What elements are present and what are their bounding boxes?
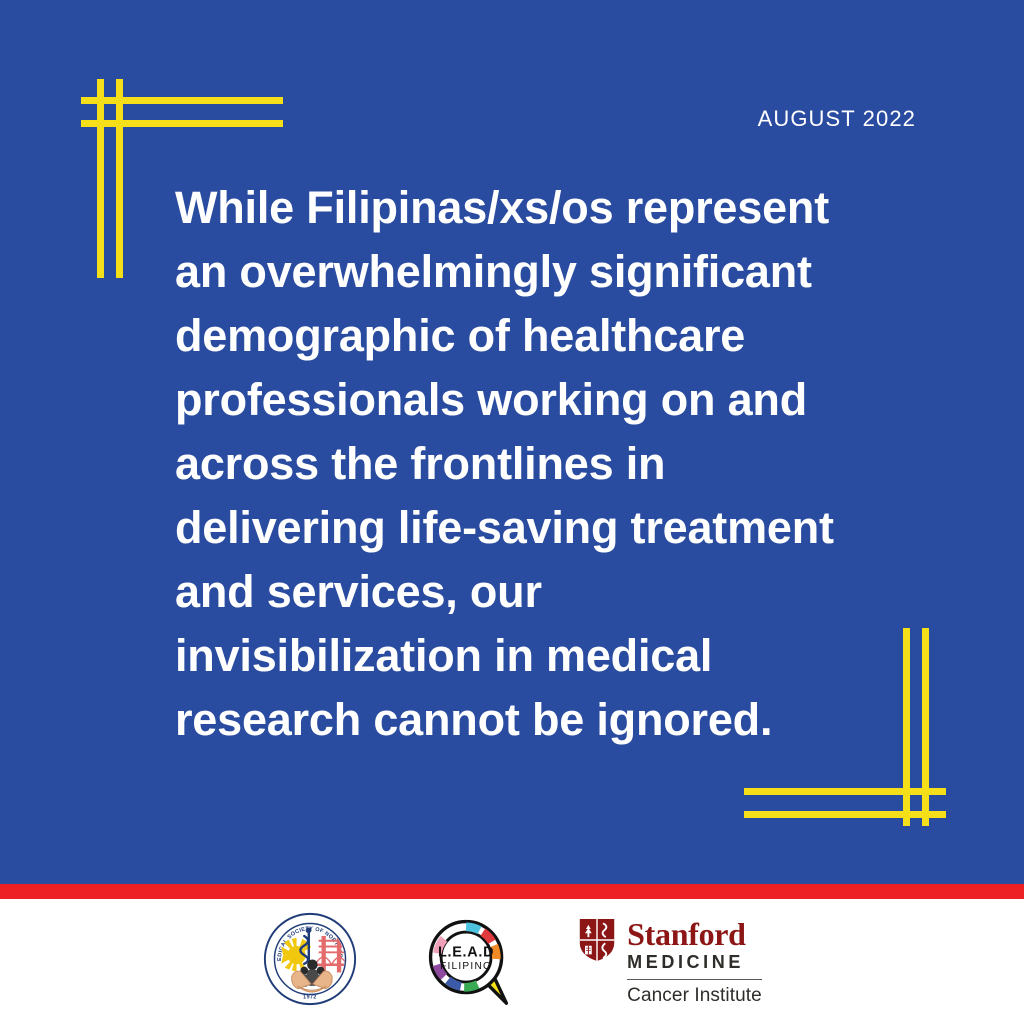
deco-horizontal-line bbox=[81, 97, 283, 104]
deco-vertical-line bbox=[97, 79, 104, 278]
lead-filipino-logo: L.E.A.D FILIPINO bbox=[420, 911, 516, 1012]
quote-line: research cannot be ignored. bbox=[175, 688, 905, 752]
deco-vertical-line bbox=[922, 628, 929, 826]
stanford-wordmark-block: Stanford MEDICINE Cancer Institute bbox=[627, 918, 762, 1006]
svg-text:L.E.A.D: L.E.A.D bbox=[438, 945, 494, 961]
stanford-wordmark: Stanford bbox=[627, 918, 762, 950]
deco-vertical-line bbox=[116, 79, 123, 278]
date-label: AUGUST 2022 bbox=[758, 106, 916, 132]
quote-line: demographic of healthcare bbox=[175, 304, 905, 368]
quote-line: across the frontlines in bbox=[175, 432, 905, 496]
blue-background-panel: AUGUST 2022 While Filipinas/xs/os repres… bbox=[0, 0, 1024, 884]
deco-horizontal-line bbox=[744, 811, 946, 818]
lead-filipino-speech-bubble-icon: L.E.A.D FILIPINO bbox=[420, 911, 516, 1007]
quote-line: While Filipinas/xs/os represent bbox=[175, 176, 905, 240]
stanford-unit-label: MEDICINE bbox=[627, 951, 762, 973]
pmsnc-seal-icon: PHILIPPINE MEDICAL SOCIETY OF NORTHERN C… bbox=[262, 911, 358, 1007]
quote-line: an overwhelmingly significant bbox=[175, 240, 905, 304]
footer-logo-row: PHILIPPINE MEDICAL SOCIETY OF NORTHERN C… bbox=[0, 899, 1024, 1024]
stanford-divider-rule bbox=[627, 979, 762, 980]
quote-line: invisibilization in medical bbox=[175, 624, 905, 688]
quote-line: and services, our bbox=[175, 560, 905, 624]
quote-line: delivering life-saving treatment bbox=[175, 496, 905, 560]
pmsnc-logo: PHILIPPINE MEDICAL SOCIETY OF NORTHERN C… bbox=[262, 911, 358, 1012]
stanford-shield-icon bbox=[578, 918, 616, 962]
svg-text:FILIPINO: FILIPINO bbox=[440, 961, 492, 972]
quote-text: While Filipinas/xs/os represent an overw… bbox=[175, 176, 905, 752]
deco-horizontal-line bbox=[744, 788, 946, 795]
quote-line: professionals working on and bbox=[175, 368, 905, 432]
stanford-subunit-label: Cancer Institute bbox=[627, 986, 762, 1006]
social-media-quote-card: AUGUST 2022 While Filipinas/xs/os repres… bbox=[0, 0, 1024, 1024]
svg-text:1972: 1972 bbox=[303, 994, 317, 1000]
stanford-medicine-cancer-institute-logo: Stanford MEDICINE Cancer Institute bbox=[578, 918, 762, 1006]
deco-horizontal-line bbox=[81, 120, 283, 127]
red-divider-stripe bbox=[0, 884, 1024, 899]
